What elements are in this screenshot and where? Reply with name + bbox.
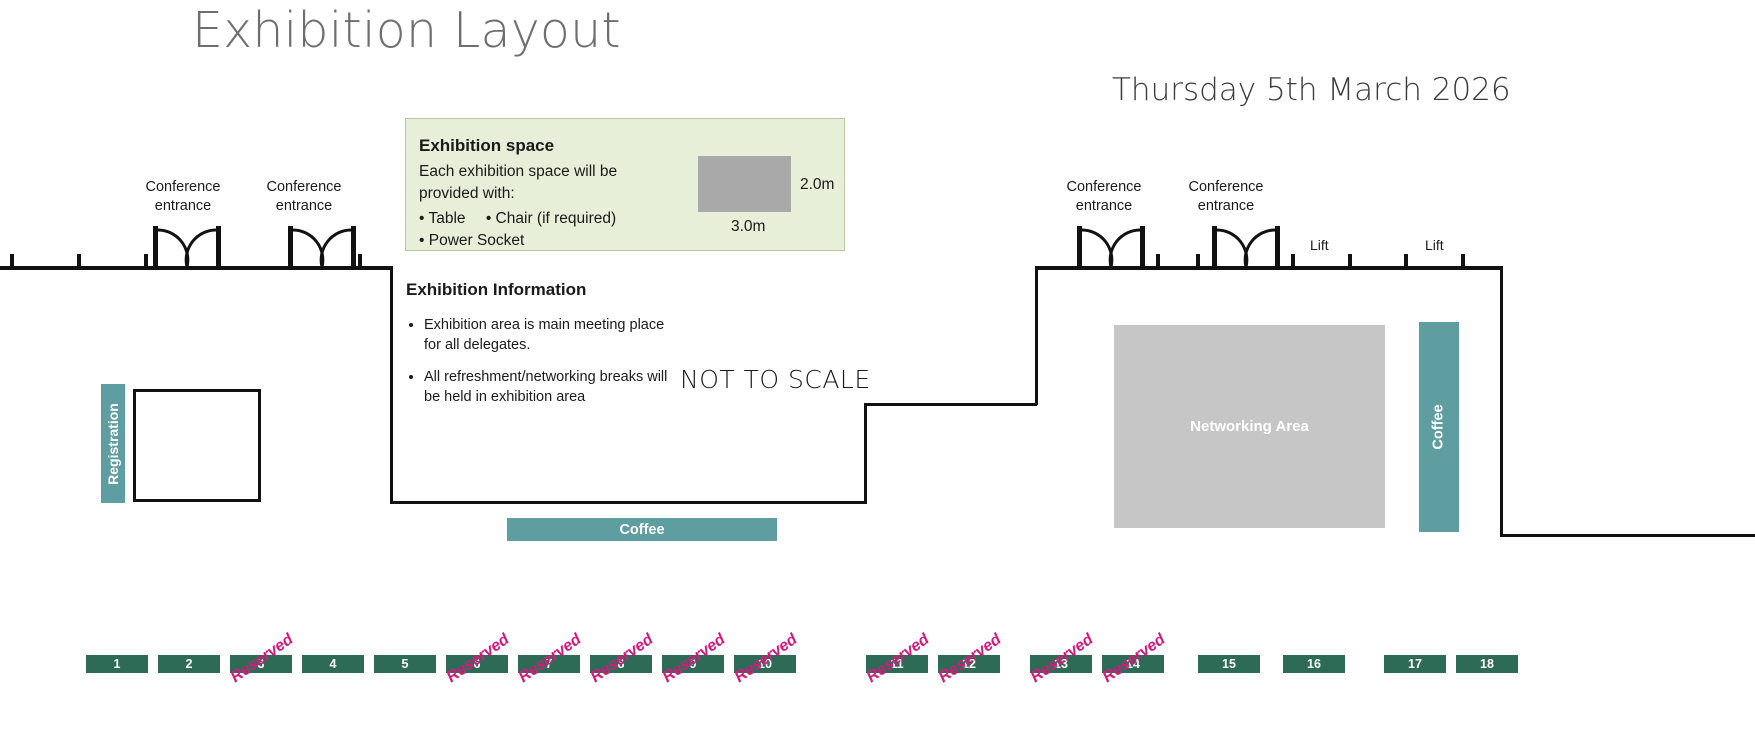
- conference-entrance-label-line2: entrance: [262, 197, 346, 216]
- booth-number: 6: [474, 657, 481, 671]
- wall-tick: [144, 254, 148, 270]
- conference-entrance-label-1: Conference entrance: [141, 178, 225, 215]
- exhibition-layout-plan: Exhibition Layout Thursday 5th March 202…: [0, 0, 1755, 750]
- registration-desk: Registration: [101, 384, 125, 503]
- wall-hall-step-horizontal: [864, 403, 1037, 406]
- booth-number: 18: [1480, 657, 1494, 671]
- booth-17[interactable]: 17: [1384, 655, 1446, 673]
- coffee-right-label: Coffee: [1431, 404, 1447, 449]
- booth-16[interactable]: 16: [1283, 655, 1345, 673]
- booth-6[interactable]: 6: [446, 655, 508, 673]
- wall-tick: [1291, 254, 1295, 270]
- wall-tick: [1348, 254, 1352, 270]
- booth-width-label: 3.0m: [731, 218, 765, 236]
- wall-hall-right-vertical-lower: [864, 403, 867, 503]
- booth-depth-label: 2.0m: [800, 176, 834, 194]
- coffee-left-label: Coffee: [619, 522, 664, 538]
- wall-tick: [10, 254, 14, 270]
- booth-4[interactable]: 4: [302, 655, 364, 673]
- conference-entrance-label-line2: entrance: [1184, 197, 1268, 216]
- booth-8[interactable]: 8: [590, 655, 652, 673]
- booth-15[interactable]: 15: [1198, 655, 1260, 673]
- networking-area-label: Networking Area: [1190, 418, 1309, 435]
- booth-size-swatch: [698, 156, 791, 212]
- booth-number: 2: [186, 657, 193, 671]
- wall-hall-left-vertical: [390, 266, 393, 503]
- conference-entrance-label-line1: Conference: [262, 178, 346, 197]
- booth-18[interactable]: 18: [1456, 655, 1518, 673]
- not-to-scale-annotation: NOT TO SCALE: [680, 365, 871, 394]
- exhibition-information-block: Exhibition Information Exhibition area i…: [406, 280, 676, 421]
- conference-entrance-label-4: Conference entrance: [1184, 178, 1268, 215]
- booth-number: 16: [1307, 657, 1321, 671]
- booth-2[interactable]: 2: [158, 655, 220, 673]
- booth-number: 11: [890, 657, 903, 671]
- conference-entrance-label-line1: Conference: [1062, 178, 1146, 197]
- wall-hall-bottom: [390, 501, 867, 504]
- conference-entrance-door-4: [1212, 226, 1282, 275]
- booth-number: 4: [330, 657, 337, 671]
- wall-tick: [1156, 254, 1160, 270]
- booth-11[interactable]: 11: [866, 655, 928, 673]
- bullet-table: • Table: [419, 210, 466, 227]
- bullet-chair: • Chair (if required): [486, 210, 616, 227]
- booth-row: 123Reserved456Reserved7Reserved8Reserved…: [0, 655, 1755, 750]
- conference-entrance-label-2: Conference entrance: [262, 178, 346, 215]
- booth-number: 9: [690, 657, 697, 671]
- booth-12[interactable]: 12: [938, 655, 1000, 673]
- wall-tick: [1196, 254, 1200, 270]
- booth-number: 8: [618, 657, 625, 671]
- conference-entrance-door-3: [1077, 226, 1147, 275]
- lift-label-1: Lift: [1310, 237, 1329, 253]
- coffee-bar-right: Coffee: [1419, 322, 1459, 532]
- bullet-power-socket: • Power Socket: [419, 230, 669, 252]
- conference-entrance-label-line1: Conference: [141, 178, 225, 197]
- coffee-bar-left: Coffee: [507, 518, 777, 541]
- booth-14[interactable]: 14: [1102, 655, 1164, 673]
- wall-hall-right-vertical-upper: [1035, 266, 1038, 405]
- conference-entrance-label-line2: entrance: [1062, 197, 1146, 216]
- conference-entrance-label-line2: entrance: [141, 197, 225, 216]
- booth-1[interactable]: 1: [86, 655, 148, 673]
- exhibition-information-list: Exhibition area is main meeting place fo…: [406, 316, 676, 408]
- wall-tick: [1461, 254, 1465, 270]
- conference-entrance-door-2: [288, 226, 358, 275]
- exhibition-space-subtitle: Each exhibition space will be provided w…: [419, 161, 664, 205]
- conference-entrance-door-1: [153, 226, 223, 275]
- booth-number: 3: [258, 657, 265, 671]
- wall-tick: [77, 254, 81, 270]
- networking-area: Networking Area: [1114, 325, 1385, 528]
- registration-label: Registration: [105, 403, 121, 485]
- wall-tick: [358, 254, 362, 270]
- page-title: Exhibition Layout: [192, 2, 621, 59]
- exhibition-information-title: Exhibition Information: [406, 280, 676, 300]
- list-item: All refreshment/networking breaks will b…: [424, 368, 676, 407]
- booth-number: 10: [758, 657, 772, 671]
- booth-number: 7: [546, 657, 553, 671]
- booth-7[interactable]: 7: [518, 655, 580, 673]
- wall-tick: [1404, 254, 1408, 270]
- conference-entrance-label-3: Conference entrance: [1062, 178, 1146, 215]
- list-item: Exhibition area is main meeting place fo…: [424, 316, 676, 355]
- booth-number: 15: [1222, 657, 1236, 671]
- booth-number: 14: [1126, 657, 1140, 671]
- booth-number: 17: [1408, 657, 1422, 671]
- exhibition-space-info-card: Exhibition space Each exhibition space w…: [405, 118, 845, 251]
- wall-right-bottom: [1500, 534, 1755, 537]
- booth-number: 12: [962, 657, 976, 671]
- booth-number: 13: [1054, 657, 1068, 671]
- booth-9[interactable]: 9: [662, 655, 724, 673]
- booth-10[interactable]: 10: [734, 655, 796, 673]
- wall-right-vertical: [1500, 266, 1503, 536]
- booth-3[interactable]: 3: [230, 655, 292, 673]
- registration-room: [133, 389, 261, 502]
- booth-number: 5: [402, 657, 409, 671]
- conference-entrance-label-line1: Conference: [1184, 178, 1268, 197]
- booth-number: 1: [114, 657, 121, 671]
- exhibition-space-bullets: • Table • Chair (if required) • Power So…: [419, 208, 669, 252]
- exhibition-space-title: Exhibition space: [419, 136, 554, 156]
- booth-13[interactable]: 13: [1030, 655, 1092, 673]
- event-date: Thursday 5th March 2026: [1112, 72, 1511, 108]
- lift-label-2: Lift: [1425, 237, 1444, 253]
- booth-5[interactable]: 5: [374, 655, 436, 673]
